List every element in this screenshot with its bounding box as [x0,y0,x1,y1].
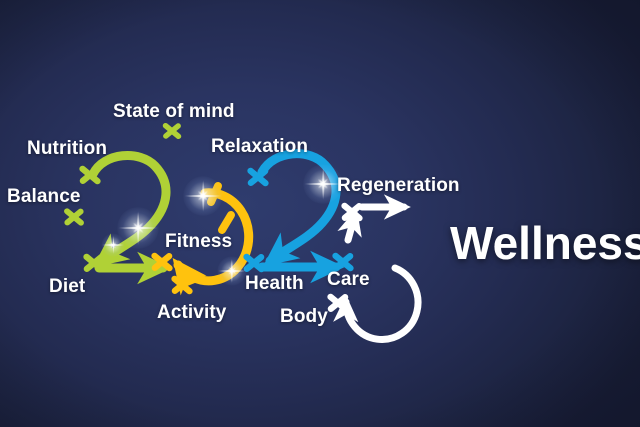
cross-balance-icon [67,211,81,222]
digit-2-green [93,156,166,268]
label-state-of-mind: State of mind [113,101,235,123]
digit-2-blue [262,154,336,267]
label-regeneration: Regeneration [337,175,460,197]
cross-care-icon [336,256,351,268]
year-2025-artwork [0,0,640,427]
label-health: Health [245,273,304,295]
blue-arc-arrow [262,154,336,261]
label-body: Body [280,306,328,328]
wellness-2025-poster: State of mindNutritionRelaxationBalanceR… [0,0,640,427]
cross-health-icon [247,257,262,269]
yellow-dash-2 [222,215,231,230]
label-care: Care [327,269,370,291]
yellow-dash-1 [211,186,218,202]
label-balance: Balance [7,186,81,208]
label-diet: Diet [49,276,85,298]
green-arc-arrow [93,156,166,262]
label-activity: Activity [157,302,226,324]
label-fitness: Fitness [165,231,232,253]
cross-state-icon [166,126,179,137]
label-relaxation: Relaxation [211,136,308,158]
label-nutrition: Nutrition [27,138,107,160]
page-title: Wellness [450,216,640,270]
white-up-arrow [348,215,355,240]
